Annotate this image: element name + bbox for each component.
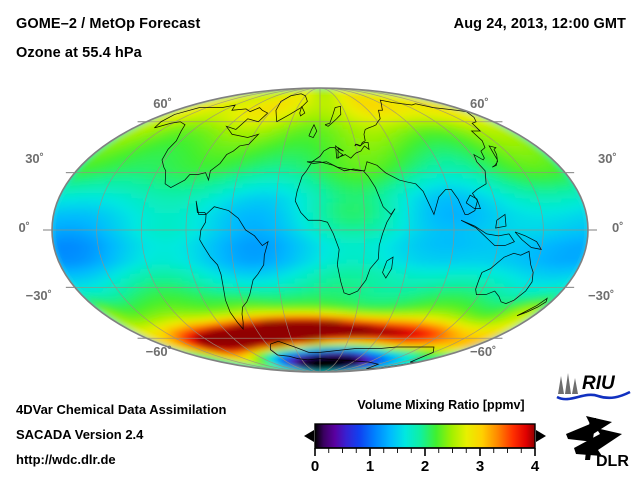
footer-url: http://wdc.dlr.de [16,452,116,467]
footer-version: SACADA Version 2.4 [16,427,143,442]
colorbar-tick-labels: 01234 [311,458,540,472]
latitude-label: 60˚ [470,96,489,111]
colorbar-major-ticks [315,448,535,456]
latitude-label: −30˚ [588,288,614,303]
colorbar-tick-label: 0 [311,458,319,472]
dlr-wordmark: DLR [596,453,629,468]
colorbar-tick-label: 2 [421,458,429,472]
latitude-label: 60˚ [153,96,172,111]
riu-towers-icon [558,373,578,394]
latitude-label: −30˚ [26,288,52,303]
riu-wordmark: RIU [582,373,616,394]
dlr-logo: DLR [560,412,632,468]
colorbar: 01234 [300,416,550,472]
colorbar-tick-label: 1 [366,458,374,472]
latitude-label: 0˚ [612,220,624,235]
colorbar-tick-label: 4 [531,458,540,472]
colorbar-gradient [315,424,535,448]
colorbar-title: Volume Mixing Ratio [ppmv] [336,398,546,412]
riu-logo: RIU [556,372,632,406]
latitude-label: 0˚ [18,220,30,235]
latitude-label: 30˚ [25,151,44,166]
latitude-label: −60˚ [470,344,496,359]
colorbar-right-arrow [536,430,546,442]
colorbar-tick-label: 3 [476,458,484,472]
latitude-label: −60˚ [146,344,172,359]
latitude-label: 30˚ [598,151,617,166]
footer-assimilation: 4DVar Chemical Data Assimilation [16,402,227,417]
colorbar-left-arrow [304,430,314,442]
